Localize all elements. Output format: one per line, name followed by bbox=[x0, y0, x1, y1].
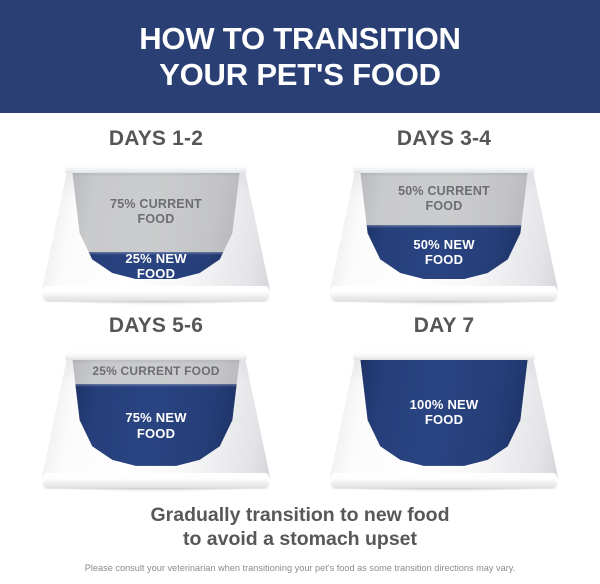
header-title-line-2: YOUR PET'S FOOD bbox=[159, 57, 441, 93]
bowl-base bbox=[331, 286, 557, 301]
new-food-label-line-2: FOOD bbox=[137, 426, 175, 441]
new-food-label: 100% NEW FOOD bbox=[360, 397, 528, 428]
bowl-rim bbox=[65, 348, 247, 360]
bowl-cavity: 25% CURRENT FOOD 75% NEW FOOD bbox=[72, 357, 240, 466]
current-food-label: 50% CURRENT FOOD bbox=[360, 184, 528, 214]
panel-title: DAY 7 bbox=[414, 314, 475, 338]
header-title-line-1: HOW TO TRANSITION bbox=[139, 21, 461, 57]
footer-message-line-2: to avoid a stomach upset bbox=[20, 527, 580, 551]
new-food-label-line-1: 50% NEW bbox=[413, 237, 474, 252]
new-food-label: 75% NEW FOOD bbox=[72, 410, 240, 441]
transition-panel-days-3-4: DAYS 3-4 50% CURRENT FOOD 50% NEW bbox=[300, 127, 588, 314]
new-food-label-line-2: FOOD bbox=[425, 412, 463, 427]
header-banner: HOW TO TRANSITION YOUR PET'S FOOD bbox=[0, 0, 600, 113]
new-food-label-line-2: FOOD bbox=[425, 252, 463, 267]
current-food-label: 25% CURRENT FOOD bbox=[72, 364, 240, 378]
panel-title: DAYS 1-2 bbox=[109, 127, 203, 151]
bowl-cavity: 50% CURRENT FOOD 50% NEW FOOD bbox=[360, 170, 528, 279]
transition-panel-days-5-6: DAYS 5-6 25% CURRENT FOOD 75% NEW FOO bbox=[12, 314, 300, 501]
transition-stage-grid: DAYS 1-2 75% CURRENT FOOD 25% NEW bbox=[0, 113, 600, 501]
current-food-label: 75% CURRENT FOOD bbox=[72, 197, 240, 227]
current-food-label-line-1: 75% CURRENT bbox=[110, 197, 202, 211]
new-food-label-line-2: FOOD bbox=[137, 266, 175, 279]
food-bowl: 100% NEW FOOD bbox=[330, 348, 558, 488]
current-food-label-line-1: 50% CURRENT bbox=[398, 184, 490, 198]
current-food-label-line-2: FOOD bbox=[426, 199, 463, 213]
disclaimer-text: Please consult your veterinarian when tr… bbox=[20, 563, 580, 575]
panel-title: DAYS 5-6 bbox=[109, 314, 203, 338]
new-food-label-line-1: 100% NEW bbox=[410, 397, 479, 412]
bowl-rim bbox=[353, 161, 535, 173]
footer-message-line-1: Gradually transition to new food bbox=[20, 503, 580, 527]
new-food-label-line-1: 75% NEW bbox=[125, 410, 186, 425]
current-food-label-line-2: FOOD bbox=[138, 212, 175, 226]
footer: Gradually transition to new food to avoi… bbox=[0, 501, 600, 584]
bowl-cavity: 100% NEW FOOD bbox=[360, 357, 528, 466]
transition-panel-days-1-2: DAYS 1-2 75% CURRENT FOOD 25% NEW bbox=[12, 127, 300, 314]
bowl-base bbox=[331, 473, 557, 488]
infographic-root: HOW TO TRANSITION YOUR PET'S FOOD DAYS 1… bbox=[0, 0, 600, 584]
new-food-label-line-1: 25% NEW bbox=[125, 251, 186, 266]
current-food-label-line-1: 25% CURRENT FOOD bbox=[92, 364, 219, 378]
transition-panel-day-7: DAY 7 100% NEW FOOD bbox=[300, 314, 588, 501]
food-bowl: 75% CURRENT FOOD 25% NEW FOOD bbox=[42, 161, 270, 301]
bowl-base bbox=[43, 286, 269, 301]
bowl-rim bbox=[65, 161, 247, 173]
bowl-cavity: 75% CURRENT FOOD 25% NEW FOOD bbox=[72, 170, 240, 279]
food-bowl: 50% CURRENT FOOD 50% NEW FOOD bbox=[330, 161, 558, 301]
food-bowl: 25% CURRENT FOOD 75% NEW FOOD bbox=[42, 348, 270, 488]
bowl-base bbox=[43, 473, 269, 488]
panel-title: DAYS 3-4 bbox=[397, 127, 491, 151]
bowl-rim bbox=[353, 348, 535, 360]
